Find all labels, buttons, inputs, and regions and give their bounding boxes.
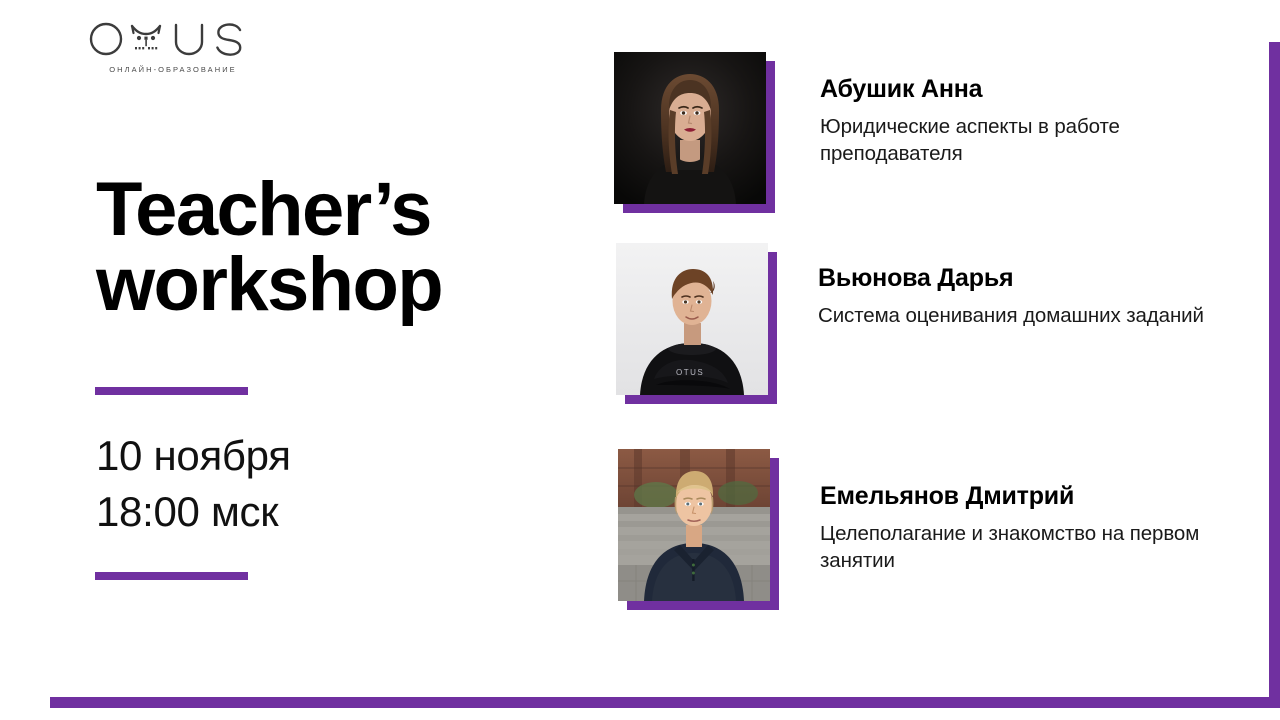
speaker-topic: Система оценивания домашних заданий	[818, 302, 1218, 329]
speaker-info-3: Емельянов Дмитрий Целеполагание и знаком…	[770, 449, 1220, 574]
speaker-photo-frame: OTUS	[616, 243, 768, 395]
accent-bar-right	[1269, 42, 1280, 708]
event-datetime: 10 ноября 18:00 мск	[96, 428, 291, 540]
accent-bar-bottom	[50, 697, 1280, 708]
speaker-card-2: OTUS Вьюнова Дарья Система оценивания до…	[616, 243, 1218, 395]
event-date: 10 ноября	[96, 428, 291, 484]
title-line-2: workshop	[96, 247, 526, 322]
portrait-abushik-anna-image	[614, 52, 766, 204]
portrait-vyunova-darya-image: OTUS	[616, 243, 768, 395]
speaker-name: Вьюнова Дарья	[818, 265, 1218, 293]
speaker-name: Емельянов Дмитрий	[820, 483, 1220, 511]
speaker-topic: Юридические аспекты в работе преподавате…	[820, 113, 1220, 167]
event-time: 18:00 мск	[96, 484, 291, 540]
presentation-slide: ОНЛАЙН-ОБРАЗОВАНИЕ Teacher’s workshop 10…	[0, 0, 1280, 720]
page-title: Teacher’s workshop	[96, 172, 526, 322]
speaker-photo-2: OTUS	[616, 243, 768, 395]
speaker-photo-frame	[618, 449, 770, 601]
speaker-photo-frame	[614, 52, 766, 204]
otus-logo: ОНЛАЙН-ОБРАЗОВАНИЕ	[88, 16, 258, 74]
speaker-name: Абушик Анна	[820, 76, 1220, 104]
speaker-photo-3	[618, 449, 770, 601]
speaker-topic: Целеполагание и знакомство на первом зан…	[820, 520, 1220, 574]
otus-logomark-icon	[88, 16, 248, 62]
logo-subtitle: ОНЛАЙН-ОБРАЗОВАНИЕ	[88, 65, 258, 74]
accent-rule-top	[95, 387, 248, 395]
svg-text:OTUS: OTUS	[676, 368, 704, 377]
speaker-info-1: Абушик Анна Юридические аспекты в работе…	[766, 52, 1220, 167]
speaker-photo-1	[614, 52, 766, 204]
portrait-emelyanov-dmitriy-image	[618, 449, 770, 601]
speaker-card-1: Абушик Анна Юридические аспекты в работе…	[614, 52, 1220, 204]
title-line-1: Teacher’s	[96, 172, 526, 247]
speaker-card-3: Емельянов Дмитрий Целеполагание и знаком…	[618, 449, 1220, 601]
accent-rule-bottom	[95, 572, 248, 580]
speaker-info-2: Вьюнова Дарья Система оценивания домашни…	[768, 243, 1218, 329]
